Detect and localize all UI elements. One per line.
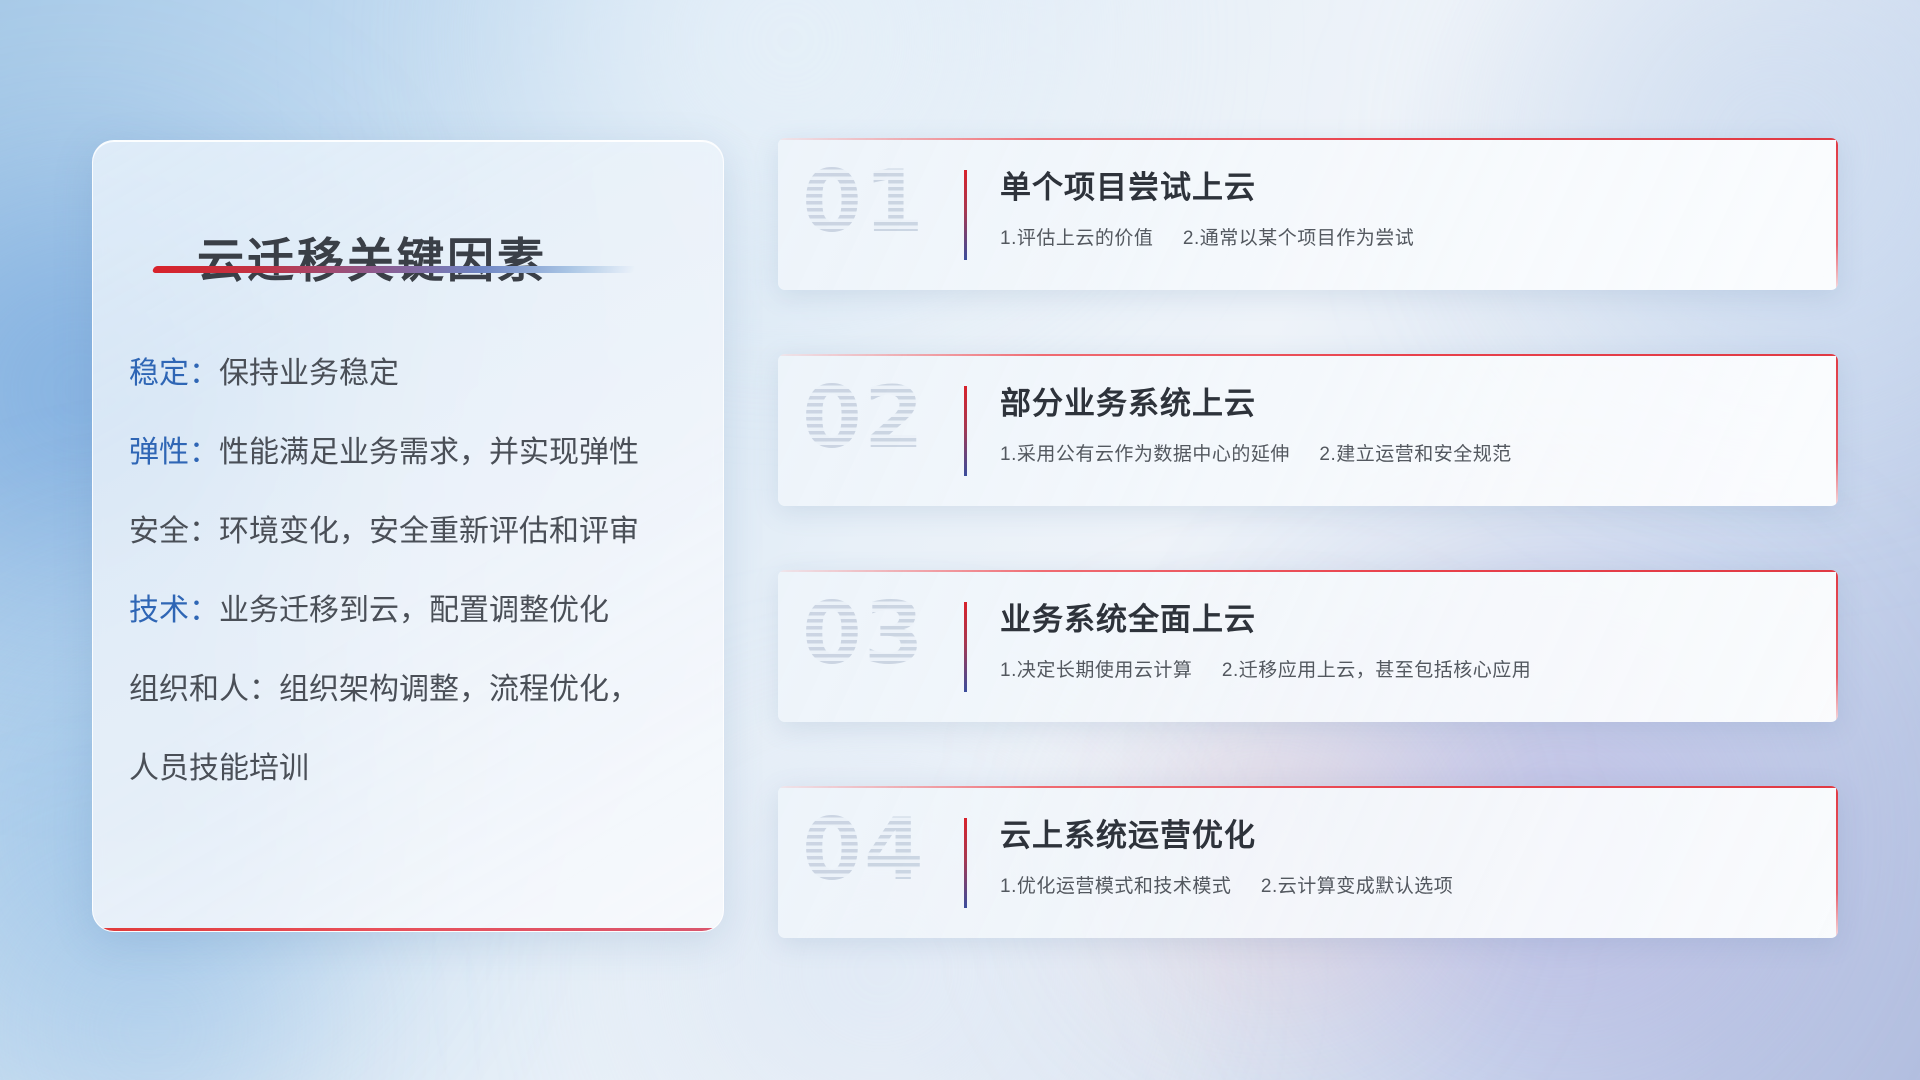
stage-description: 1.评估上云的价值 2.通常以某个项目作为尝试 [1000,223,1808,250]
stage-point-1: 1.评估上云的价值 [1000,228,1153,249]
stage-description: 1.采用公有云作为数据中心的延伸 2.建立运营和安全规范 [1000,439,1808,466]
stage-card-body: 云上系统运营优化 1.优化运营模式和技术模式 2.云计算变成默认选项 [1000,810,1808,898]
stage-divider-accent [964,386,967,476]
stage-point-2: 2.建立运营和安全规范 [1319,444,1511,465]
stage-title: 部分业务系统上云 [1000,378,1808,423]
factor-text: 性能满足业务需求，并实现弹性 [219,436,639,469]
factor-text: 业务迁移到云，配置调整优化 [219,594,609,627]
panel-title: 云迁移关键因素 [197,222,547,291]
factor-item-continuation: 人员技能培训 [129,754,699,784]
stage-number-watermark: 03 [802,584,926,684]
factor-item: 安全：环境变化，安全重新评估和评审 [129,517,699,547]
factor-item: 弹性：性能满足业务需求，并实现弹性 [129,438,699,468]
factor-label: 弹性： [129,436,219,469]
stage-number-watermark: 01 [802,152,926,252]
stage-card[interactable]: 03 业务系统全面上云 1.决定长期使用云计算 2.迁移应用上云，甚至包括核心应… [778,570,1838,722]
stage-card-body: 单个项目尝试上云 1.评估上云的价值 2.通常以某个项目作为尝试 [1000,162,1808,250]
stage-point-1: 1.优化运营模式和技术模式 [1000,876,1231,897]
factor-label: 稳定： [129,357,219,390]
factor-label: 技术： [129,594,219,627]
stage-title: 云上系统运营优化 [1000,810,1808,855]
factor-text: 人员技能培训 [129,752,309,785]
stage-title: 业务系统全面上云 [1000,594,1808,639]
stage-title: 单个项目尝试上云 [1000,162,1808,207]
stage-point-1: 1.决定长期使用云计算 [1000,660,1192,681]
stage-card-body: 部分业务系统上云 1.采用公有云作为数据中心的延伸 2.建立运营和安全规范 [1000,378,1808,466]
title-underline-accent [152,266,636,273]
key-factors-panel: 云迁移关键因素 稳定：保持业务稳定 弹性：性能满足业务需求，并实现弹性 安全：环… [92,140,724,932]
stage-number-watermark: 02 [802,368,926,468]
stage-point-2: 2.迁移应用上云，甚至包括核心应用 [1222,660,1531,681]
stage-card-list: 01 单个项目尝试上云 1.评估上云的价值 2.通常以某个项目作为尝试 02 部… [778,138,1838,938]
factor-list: 稳定：保持业务稳定 弹性：性能满足业务需求，并实现弹性 安全：环境变化，安全重新… [129,359,699,784]
factor-label: 安全： [129,515,219,548]
factor-item: 稳定：保持业务稳定 [129,359,699,389]
factor-text: 组织架构调整，流程优化， [279,673,639,706]
stage-description: 1.决定长期使用云计算 2.迁移应用上云，甚至包括核心应用 [1000,655,1808,682]
stage-card[interactable]: 01 单个项目尝试上云 1.评估上云的价值 2.通常以某个项目作为尝试 [778,138,1838,290]
factor-item: 技术：业务迁移到云，配置调整优化 [129,596,699,626]
stage-point-1: 1.采用公有云作为数据中心的延伸 [1000,444,1290,465]
stage-card[interactable]: 02 部分业务系统上云 1.采用公有云作为数据中心的延伸 2.建立运营和安全规范 [778,354,1838,506]
stage-card[interactable]: 04 云上系统运营优化 1.优化运营模式和技术模式 2.云计算变成默认选项 [778,786,1838,938]
stage-divider-accent [964,818,967,908]
factor-label: 组织和人： [129,673,279,706]
stage-point-2: 2.通常以某个项目作为尝试 [1183,228,1414,249]
stage-divider-accent [964,602,967,692]
factor-text: 环境变化，安全重新评估和评审 [219,515,639,548]
stage-card-body: 业务系统全面上云 1.决定长期使用云计算 2.迁移应用上云，甚至包括核心应用 [1000,594,1808,682]
factor-item: 组织和人：组织架构调整，流程优化， [129,675,699,705]
stage-number-watermark: 04 [802,800,926,900]
factor-text: 保持业务稳定 [219,357,399,390]
stage-point-2: 2.云计算变成默认选项 [1261,876,1453,897]
stage-divider-accent [964,170,967,260]
stage-description: 1.优化运营模式和技术模式 2.云计算变成默认选项 [1000,871,1808,898]
